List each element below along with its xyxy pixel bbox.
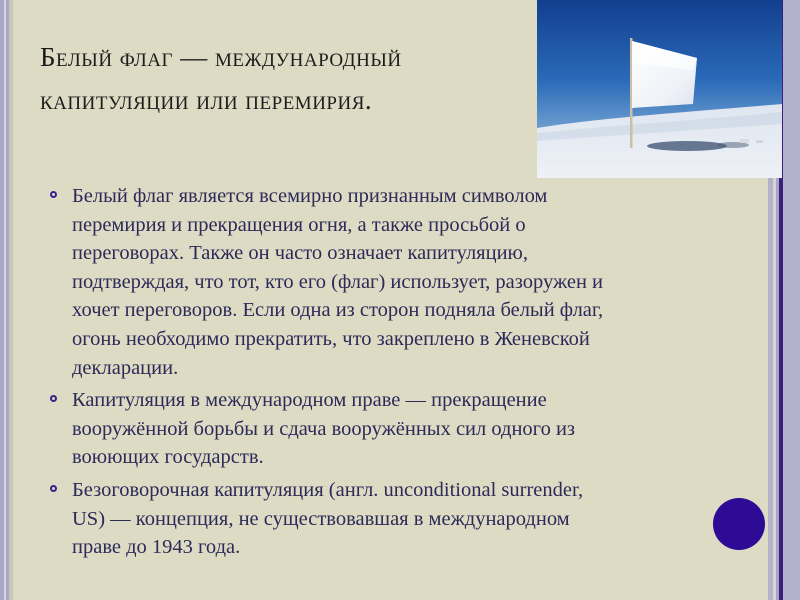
list-item: Безоговорочная капитуляция (англ. uncond… [44, 476, 604, 562]
hollow-ring-bullet-icon [50, 485, 57, 492]
white-flag-on-snow-photo [537, 0, 782, 178]
list-item-text: Безоговорочная капитуляция (англ. uncond… [72, 476, 604, 562]
list-item-text: Капитуляция в международном праве — прек… [72, 386, 604, 472]
right-border-stripe-5 [783, 0, 800, 600]
list-item-text: Белый флаг является всемирно признанным … [72, 182, 604, 382]
hollow-ring-bullet-icon [50, 191, 57, 198]
page-title: Белый флаг — международный капитуляции и… [40, 36, 560, 122]
hollow-ring-bullet-icon [50, 395, 57, 402]
list-item: Капитуляция в международном праве — прек… [44, 386, 604, 472]
left-border-stripe-4 [9, 0, 13, 600]
list-item: Белый флаг является всемирно признанным … [44, 182, 604, 382]
presentation-slide: Белый флаг — международный капитуляции и… [0, 0, 800, 600]
purple-circle-decoration [713, 498, 765, 550]
bullet-list: Белый флаг является всемирно признанным … [44, 182, 604, 566]
